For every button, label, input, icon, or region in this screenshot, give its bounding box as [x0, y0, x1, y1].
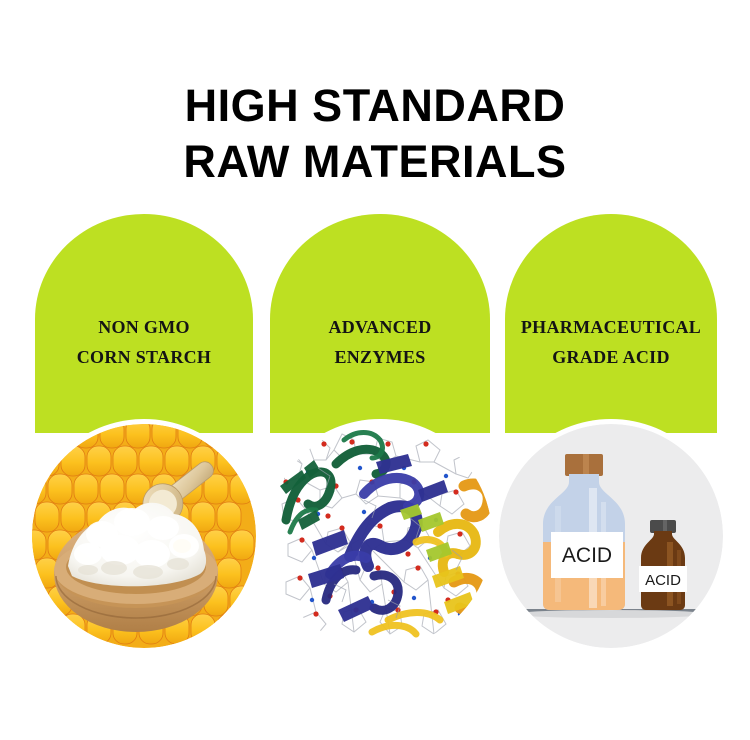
large-bottle-label-text: ACID — [562, 544, 612, 567]
enzyme-protein-structure-image — [268, 424, 492, 648]
card-label-line-1: NON GMO — [35, 312, 253, 342]
card-label-line-2: ENZYMES — [270, 342, 490, 372]
small-bottle-label-text: ACID — [645, 572, 681, 589]
card-label-line-2: CORN STARCH — [35, 342, 253, 372]
corn-starch-bowl-photo — [32, 424, 256, 648]
card-label-non-gmo-corn-starch: NON GMO CORN STARCH — [35, 312, 253, 372]
acid-bottles-illustration: ACID ACID — [499, 424, 723, 648]
card-label-line-2: GRADE ACID — [505, 342, 717, 372]
card-label-pharmaceutical-grade-acid: PHARMACEUTICAL GRADE ACID — [505, 312, 717, 372]
material-cards-row: NON GMO CORN STARCH — [0, 0, 750, 740]
card-label-advanced-enzymes: ADVANCED ENZYMES — [270, 312, 490, 372]
card-label-line-1: ADVANCED — [270, 312, 490, 342]
card-label-line-1: PHARMACEUTICAL — [505, 312, 717, 342]
poster-canvas: HIGH STANDARD RAW MATERIALS NON GMO CORN… — [0, 0, 750, 740]
